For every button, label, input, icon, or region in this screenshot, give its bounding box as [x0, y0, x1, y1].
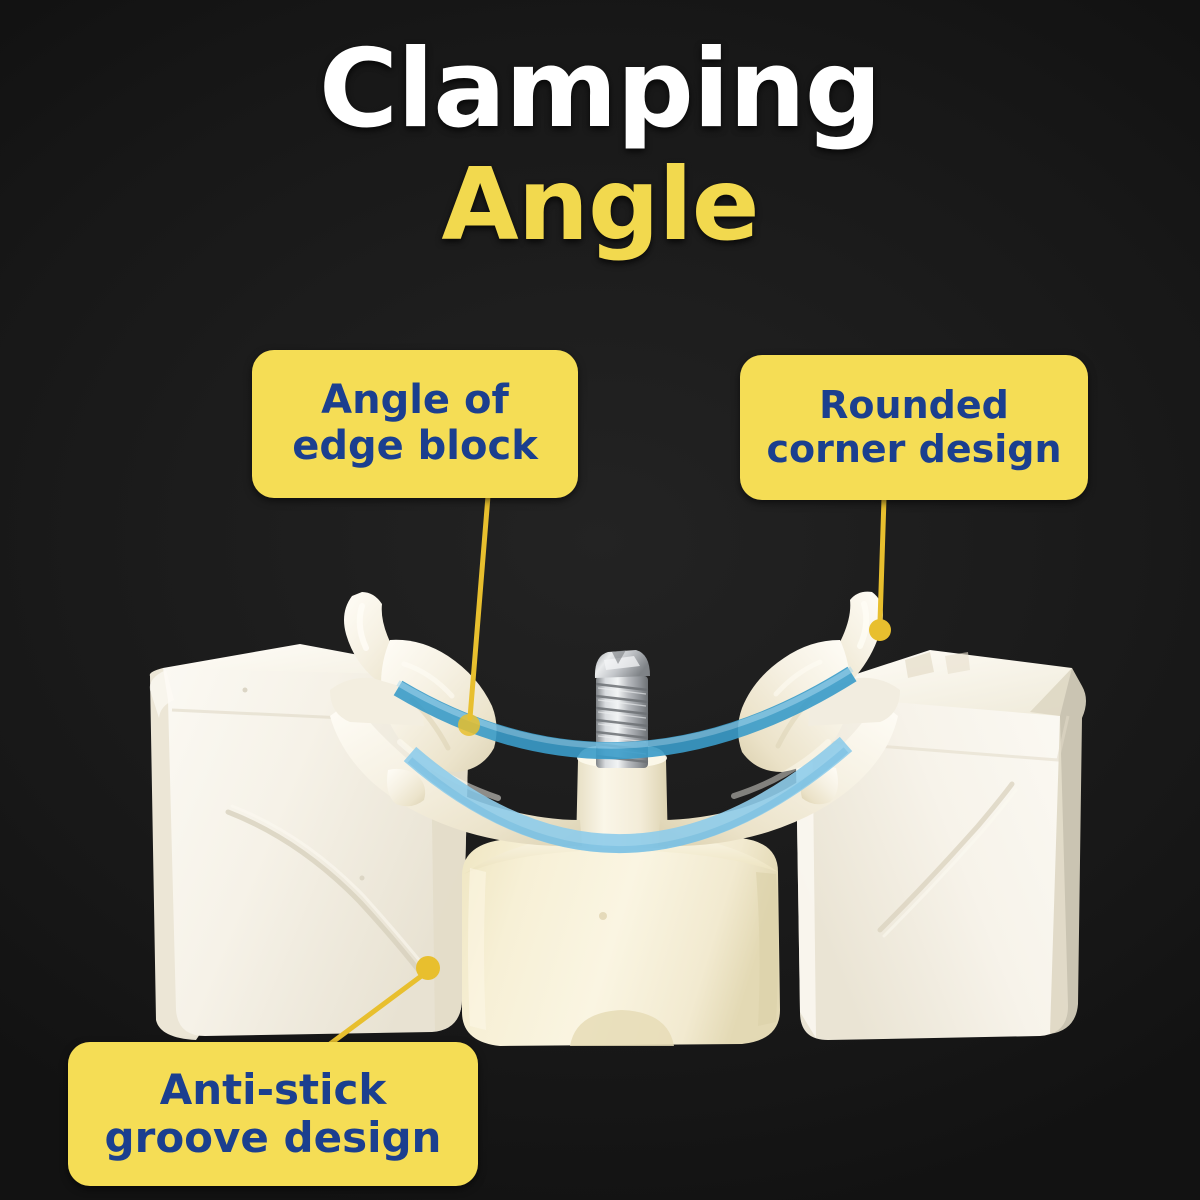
callout-label-rounded-corner[interactable]: Rounded corner design [740, 355, 1088, 500]
poster-canvas: Clamping Angle [0, 0, 1200, 1200]
callout-label-edge-block[interactable]: Angle of edge block [252, 350, 578, 498]
callout-label-anti-stick[interactable]: Anti-stick groove design [68, 1042, 478, 1186]
page-title: Clamping Angle [0, 36, 1200, 257]
title-line-primary: Clamping [0, 36, 1200, 144]
callout-text-anti-stick: Anti-stick groove design [86, 1066, 460, 1162]
callout-text-edge-block: Angle of edge block [270, 378, 560, 469]
title-line-accent: Angle [0, 152, 1200, 257]
center-cream-cylinder [462, 832, 780, 1046]
callout-text-rounded-corner: Rounded corner design [758, 384, 1070, 471]
